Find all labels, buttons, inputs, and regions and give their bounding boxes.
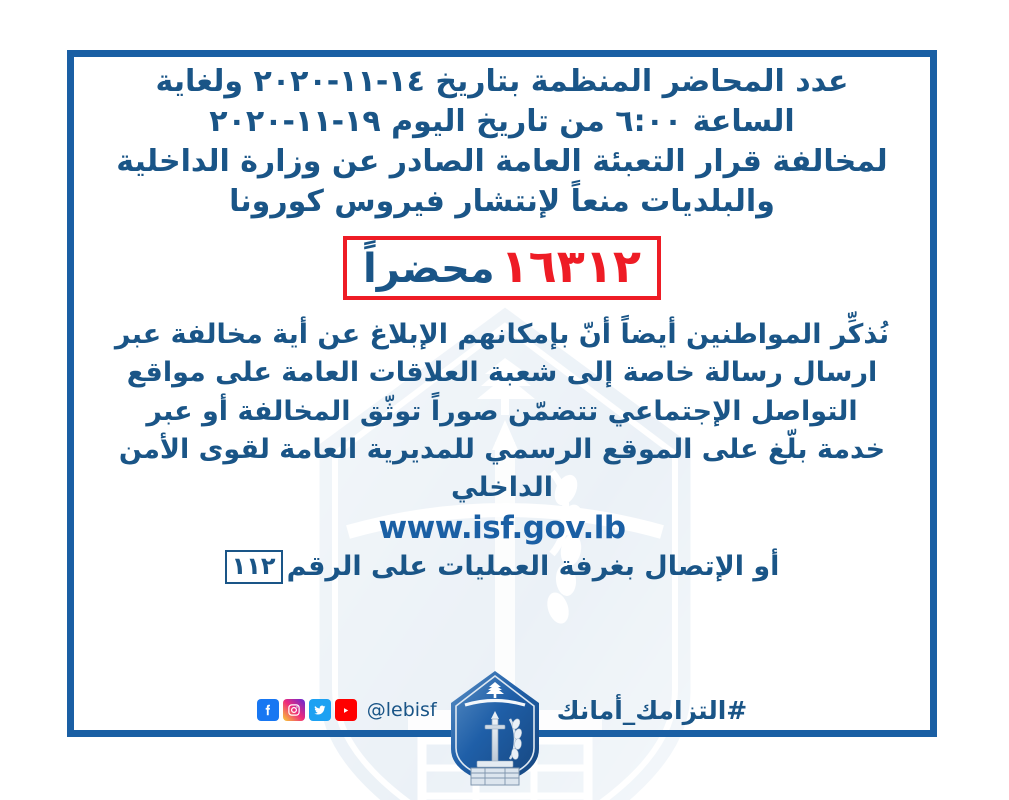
header-line-1: عدد المحاضر المنظمة بتاريخ ١٤-١١-٢٠٢٠ ول… [80,62,924,102]
poster-root: عدد المحاضر المنظمة بتاريخ ١٤-١١-٢٠٢٠ ول… [0,0,1009,800]
social-handle[interactable]: @lebisf [367,699,437,721]
body-line-3: التواصل الإجتماعي تتضمّن صوراً توثّق الم… [80,393,924,431]
twitter-icon[interactable] [309,699,331,721]
poster-content: عدد المحاضر المنظمة بتاريخ ١٤-١١-٢٠٢٠ ول… [80,62,924,584]
violation-count-number: ١٦٣١٢ [501,242,641,290]
header-block: عدد المحاضر المنظمة بتاريخ ١٤-١١-٢٠٢٠ ول… [80,62,924,222]
body-line-5: الداخلي [80,469,924,507]
body-line-1: نُذكِّر المواطنين أيضاً أنّ بإمكانهم الإ… [80,316,924,354]
header-line-4: والبلديات منعاً لإنتشار فيروس كورونا [80,182,924,222]
violation-count-unit: محضراً [363,248,495,290]
count-highlight-wrap: ١٦٣١٢ محضراً [80,236,924,300]
header-line-2: الساعة ٦:٠٠ من تاريخ اليوم ١٩-١١-٢٠٢٠ [80,102,924,142]
isf-logo [447,669,543,787]
body-block: نُذكِّر المواطنين أيضاً أنّ بإمكانهم الإ… [80,316,924,508]
header-line-3: لمخالفة قرار التعبئة العامة الصادر عن وز… [80,142,924,182]
poster-footer: #التزامك_أمانك [74,683,930,737]
hotline-number-box: ١١٢ [225,550,283,584]
youtube-icon[interactable] [335,699,357,721]
campaign-hashtag: #التزامك_أمانك [557,696,748,725]
violation-count-box: ١٦٣١٢ محضراً [343,236,661,300]
body-line-2: ارسال رسالة خاصة إلى شعبة العلاقات العام… [80,354,924,392]
body-line-4: خدمة بلّغ على الموقع الرسمي للمديرية الع… [80,431,924,469]
website-link[interactable]: www.isf.gov.lb [80,510,924,546]
facebook-icon[interactable] [257,699,279,721]
social-links: @lebisf [257,699,437,721]
hotline-label: أو الإتصال بغرفة العمليات على الرقم [287,551,780,582]
instagram-icon[interactable] [283,699,305,721]
hotline-row: أو الإتصال بغرفة العمليات على الرقم ١١٢ [80,550,924,584]
